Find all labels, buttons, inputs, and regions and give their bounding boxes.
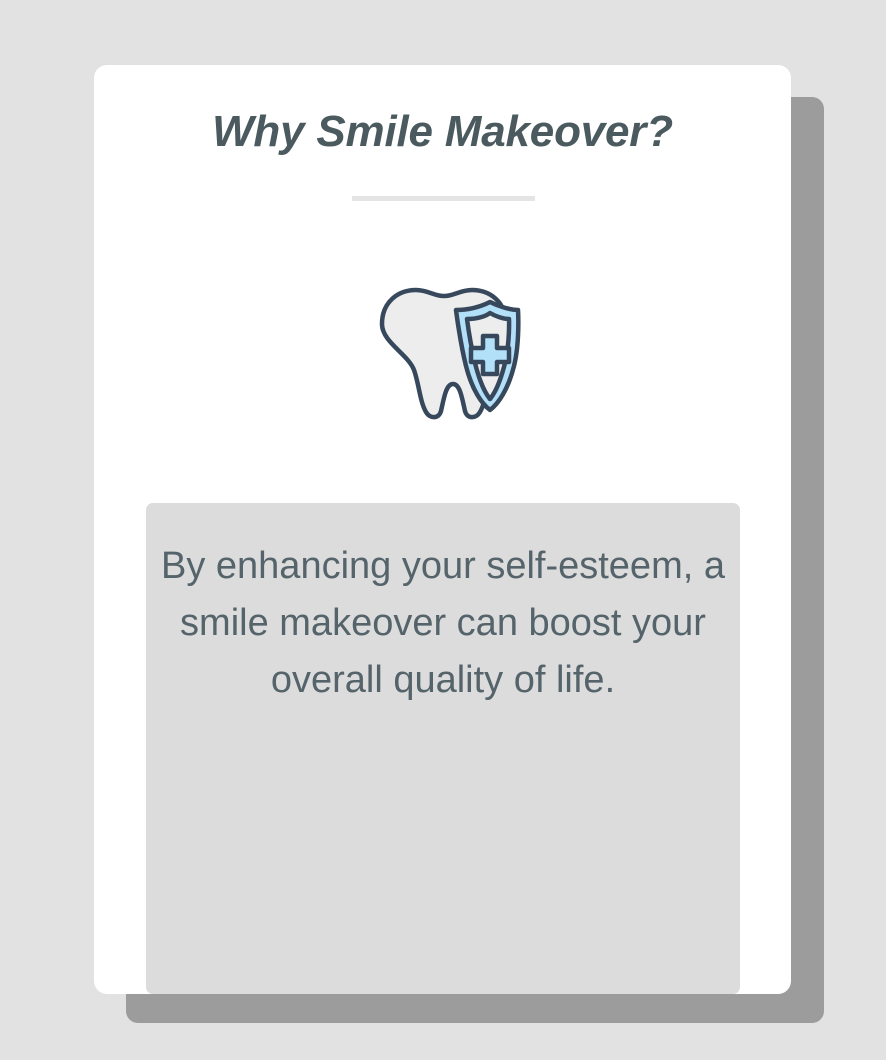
page-title: Why Smile Makeover? (94, 107, 791, 157)
body-text: By enhancing your self-esteem, a smile m… (146, 538, 740, 709)
title-divider (352, 196, 535, 201)
content-panel: By enhancing your self-esteem, a smile m… (146, 503, 740, 994)
slide-canvas: Why Smile Makeover? By enhancing your se… (0, 0, 886, 1060)
info-card: Why Smile Makeover? By enhancing your se… (94, 65, 791, 994)
tooth-shield-icon (366, 280, 526, 428)
